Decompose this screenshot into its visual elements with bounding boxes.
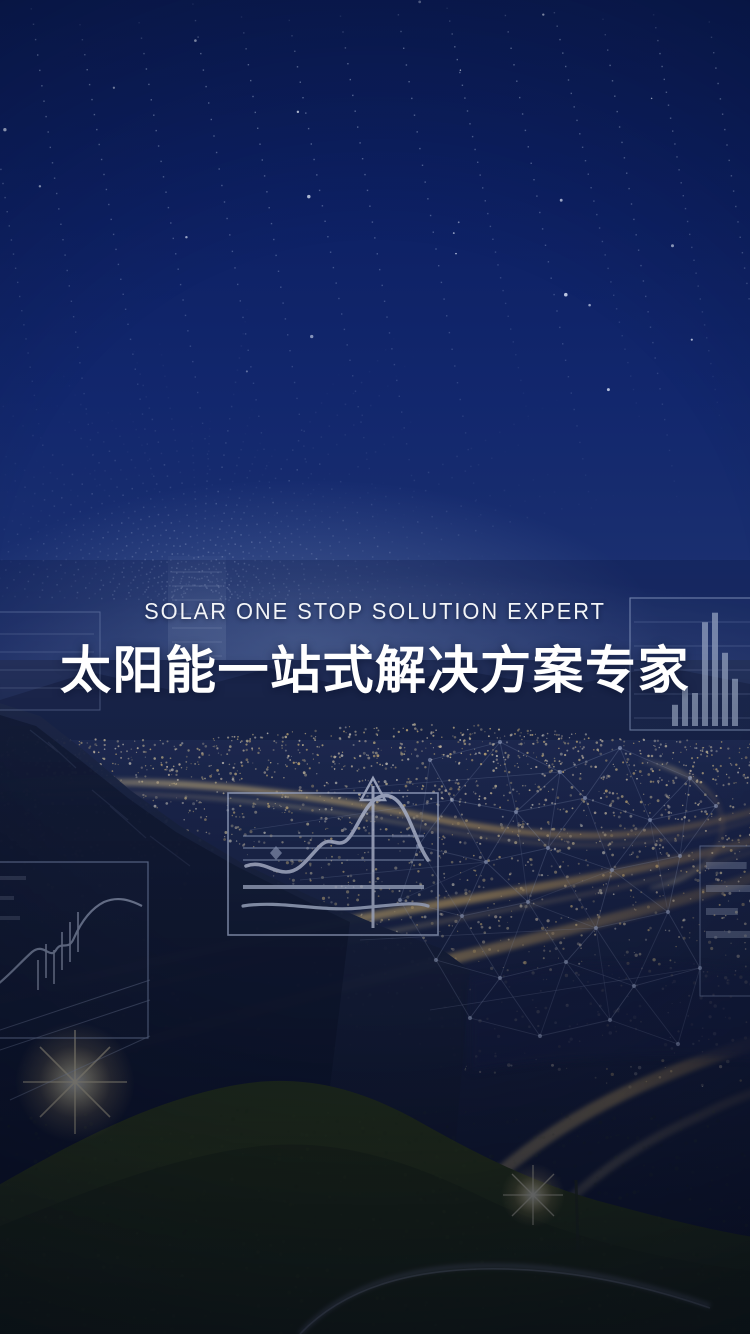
vignette-overlay	[0, 0, 750, 1334]
hero-banner: SOLAR ONE STOP SOLUTION EXPERT 太阳能一站式解决方…	[0, 0, 750, 1334]
